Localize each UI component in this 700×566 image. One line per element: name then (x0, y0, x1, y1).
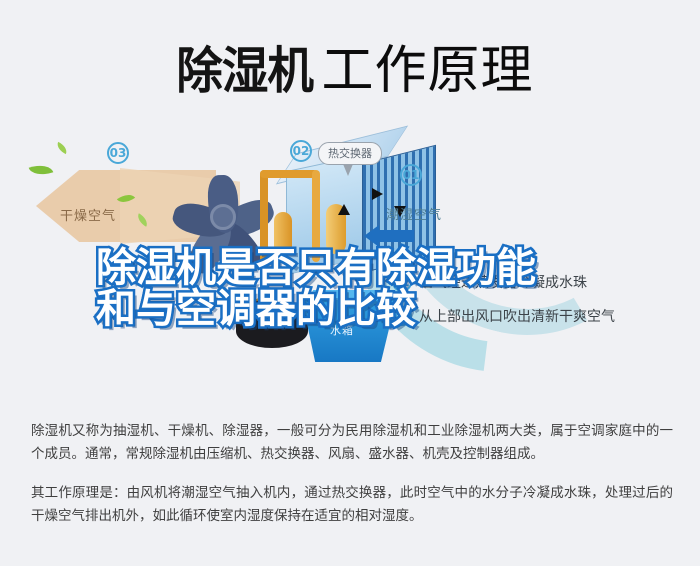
page-title-secondary: 工作原理 (321, 28, 533, 103)
flow-arrow-icon (372, 188, 383, 200)
humid-air-label: 潮湿空气 (386, 204, 442, 223)
diagram-badge-02: 02 (290, 140, 312, 162)
leaf-icon (55, 142, 69, 154)
compressor-icon (236, 304, 308, 348)
diagram-badge-01: 01 (400, 164, 422, 186)
legend-text-03: 从上部出风口吹出清新干爽空气 (419, 306, 615, 326)
dry-air-label: 干燥空气 (60, 205, 116, 224)
air-intake-arrow-icon (378, 230, 414, 242)
page-title: 除湿机工作原理 (0, 28, 700, 103)
page-title-primary: 除湿机 (177, 31, 314, 103)
diagram-badge-03: 03 (107, 142, 129, 164)
legend-badge-02: 02 (392, 272, 412, 292)
legend-list: 02 空气经过蒸发器冷凝成水珠 03 从上部出风口吹出清新干爽空气 (392, 272, 692, 340)
legend-badge-03: 03 (392, 306, 412, 326)
heat-exchanger-callout: 热交换器 (318, 142, 382, 165)
article-body: 除湿机又称为抽湿机、干燥机、除湿器，一般可分为民用除湿机和工业除湿机两大类，属于… (31, 420, 673, 544)
infographic-page: 除湿机工作原理 干燥空气 (0, 0, 700, 566)
body-paragraph-1: 除湿机又称为抽湿机、干燥机、除湿器，一般可分为民用除湿机和工业除湿机两大类，属于… (31, 420, 673, 466)
legend-text-02: 空气经过蒸发器冷凝成水珠 (419, 272, 587, 292)
flow-arrow-icon (338, 204, 350, 215)
refrigerant-coil-icon (252, 164, 372, 272)
legend-item: 02 空气经过蒸发器冷凝成水珠 (392, 272, 692, 292)
dehumidifier-diagram: 干燥空气 水箱 热交换器 (0, 118, 700, 396)
body-paragraph-2: 其工作原理是：由风机将潮湿空气抽入机内，通过热交换器，此时空气中的水分子冷凝成水… (31, 482, 673, 528)
water-tank-label: 水箱 (330, 322, 354, 338)
legend-item: 03 从上部出风口吹出清新干爽空气 (392, 306, 692, 326)
leaf-icon (29, 161, 54, 179)
